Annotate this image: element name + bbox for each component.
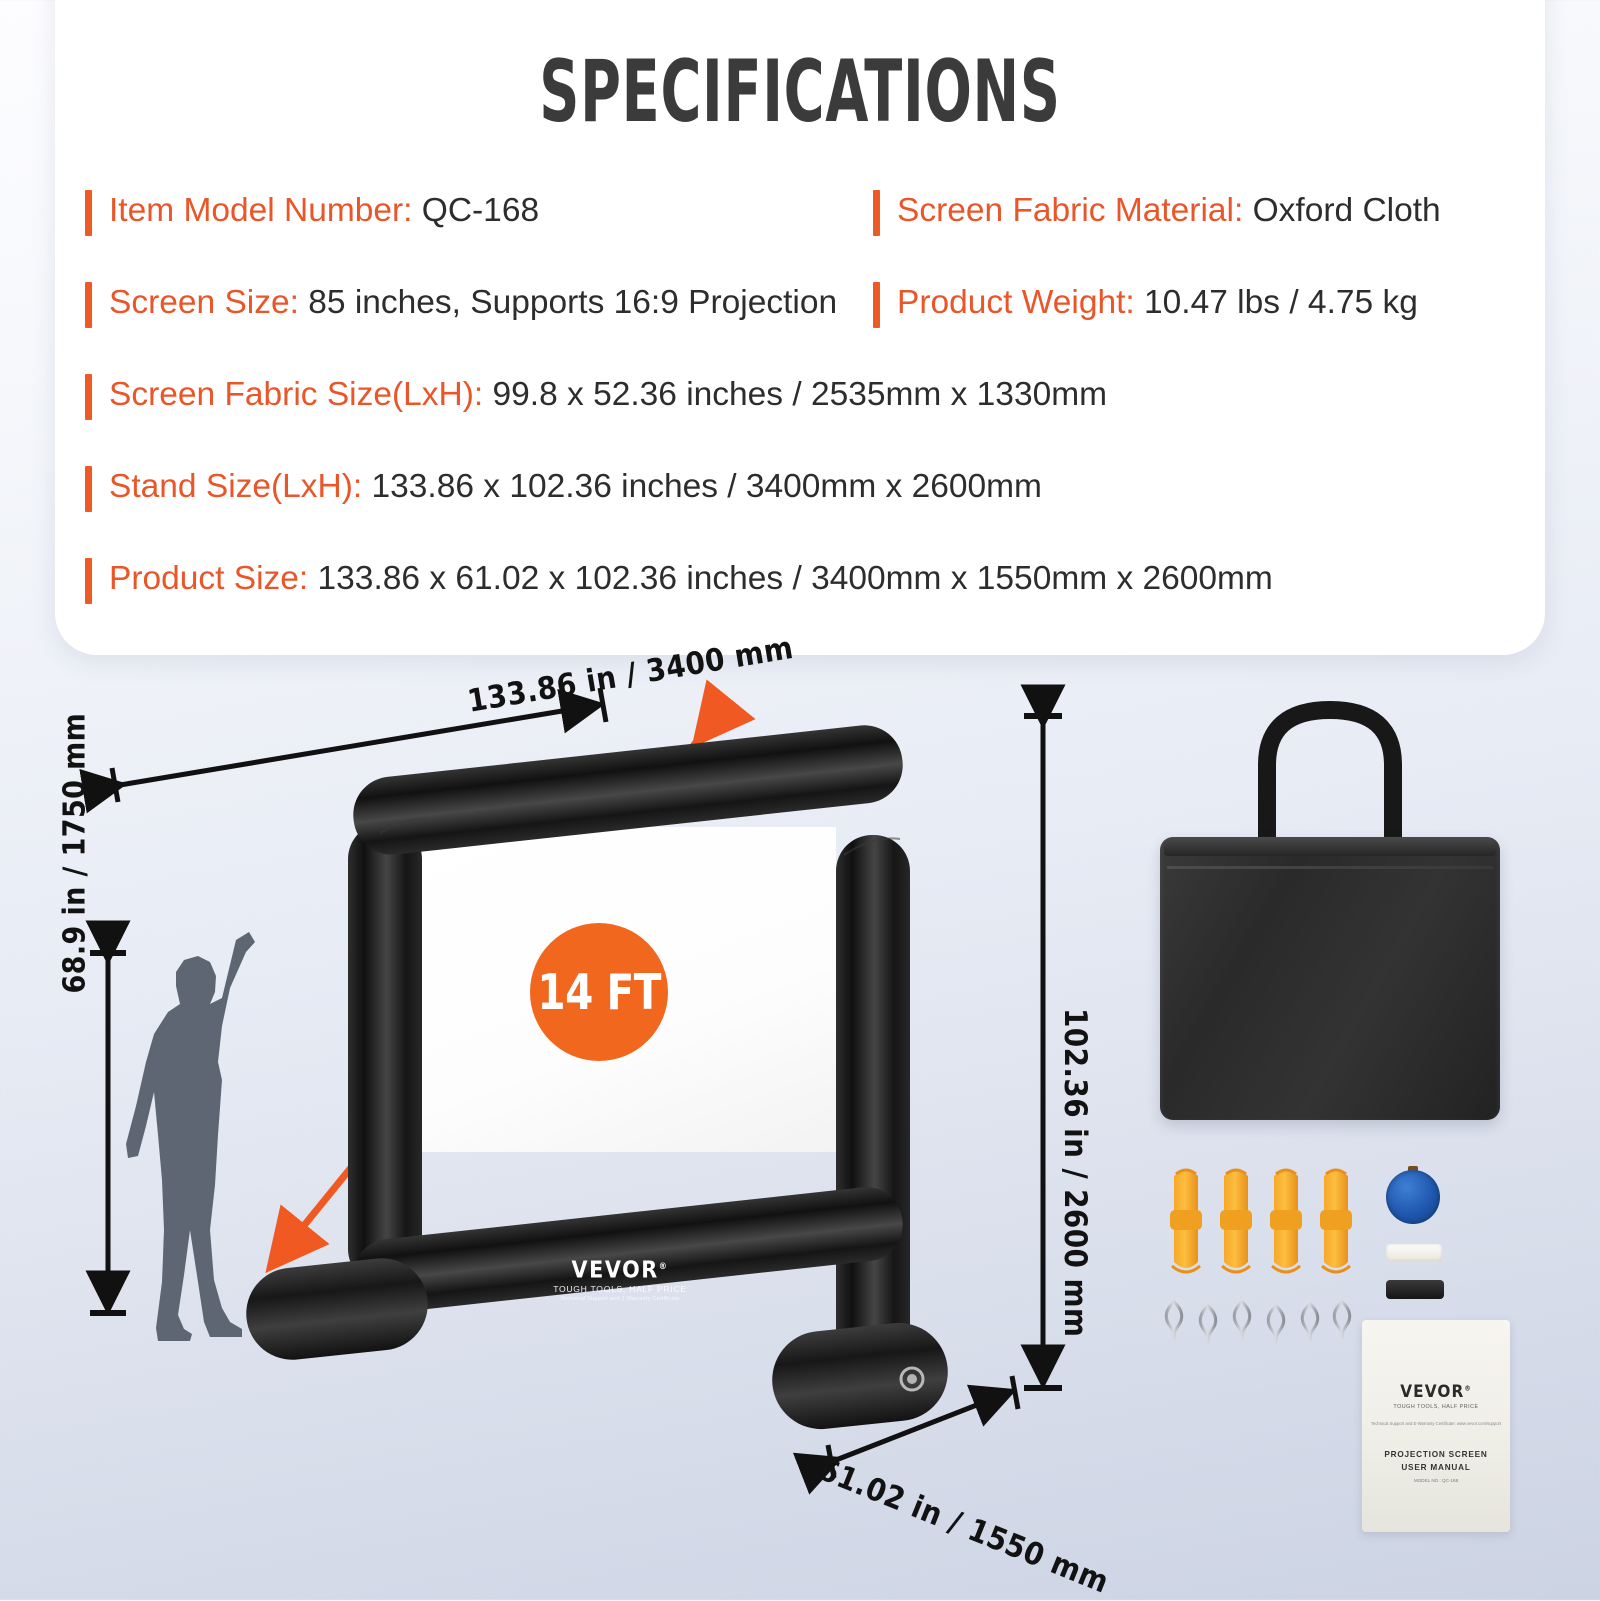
spec-label: Screen Fabric Material: [897,192,1243,229]
spec-label: Item Model Number: [109,192,412,229]
inflatable-frame [240,715,960,1505]
carry-bag [1155,670,1505,1140]
manual-model: MODEL NO.: QC-168 [1362,1478,1510,1483]
human-height-dimension-label: 68.9 in / 1750 mm [58,713,93,994]
manual-tagline: TOUGH TOOLS, HALF PRICE [1362,1404,1510,1410]
screen-size-badge: 14 FT [530,923,668,1061]
brand-tagline: TOUGH TOOLS, HALF PRICE [525,1283,715,1295]
spec-value: Oxford Cloth [1253,192,1441,229]
rope-bundle-icon [1170,1170,1352,1272]
spec-row: Product Size: 133.86 x 61.02 x 102.36 in… [55,554,1545,604]
spec-row: Stand Size(LxH): 133.86 x 102.36 inches … [55,462,1545,512]
spec-item-screen-size: Screen Size: 85 inches, Supports 16:9 Pr… [55,278,855,328]
page-title: SPECIFICATIONS [264,42,1337,142]
accent-bar-icon [85,282,92,328]
brand-subline: Technical Support and 1 Warranty Certifi… [525,1295,715,1303]
spec-item-product-size: Product Size: 133.86 x 61.02 x 102.36 in… [85,554,1273,604]
spec-value: QC-168 [422,192,539,229]
spec-row: Screen Size: 85 inches, Supports 16:9 Pr… [55,278,1545,328]
spec-value: 133.86 x 61.02 x 102.36 inches / 3400mm … [318,560,1273,597]
spec-label: Screen Fabric Size(LxH): [109,376,483,413]
spec-item-stand-size: Stand Size(LxH): 133.86 x 102.36 inches … [85,462,1042,512]
thread-spool-icon [1386,1244,1442,1261]
bag-top-lip [1164,837,1496,856]
manual-title-line1: PROJECTION SCREEN [1362,1450,1510,1459]
spec-value: 10.47 lbs / 4.75 kg [1144,284,1418,321]
user-manual: VEVOR® TOUGH TOOLS, HALF PRICE Technical… [1362,1320,1510,1532]
height-dimension-label: 102.36 in / 2600 mm [1057,1008,1093,1337]
repair-patch-icon [1386,1280,1444,1299]
bag-zipper-icon [1167,866,1493,869]
spec-label: Product Size: [109,560,308,597]
spec-item-screen-fabric-material: Screen Fabric Material: Oxford Cloth [855,186,1441,236]
accent-bar-icon [873,282,880,328]
inflatable-projection-screen: 14 FT VEVOR® TOUGH TOOLS, HALF PRICE Tec… [240,715,960,1505]
accent-bar-icon [85,558,92,604]
spec-label: Product Weight: [897,284,1135,321]
brand-name: VEVOR [572,1258,659,1284]
screen-size-badge-label: 14 FT [537,964,661,1021]
registered-mark: ® [659,1262,669,1272]
manual-title-line2: USER MANUAL [1362,1463,1510,1472]
accent-bar-icon [873,190,880,236]
spec-label: Screen Size: [109,284,299,321]
manual-registered-mark: ® [1464,1384,1471,1392]
spec-value: 99.8 x 52.36 inches / 2535mm x 1330mm [493,376,1108,413]
spec-row: Item Model Number: QC-168 Screen Fabric … [55,186,1545,236]
needle-kit-icon [1386,1170,1440,1224]
spec-value: 85 inches, Supports 16:9 Projection [308,284,837,321]
spec-row: Screen Fabric Size(LxH): 99.8 x 52.36 in… [55,370,1545,420]
specifications-card: SPECIFICATIONS Item Model Number: QC-168… [55,0,1545,655]
brand-logo: VEVOR® TOUGH TOOLS, HALF PRICE Technical… [525,1255,715,1303]
spec-item-model-number: Item Model Number: QC-168 [55,186,855,236]
manual-brand: VEVOR [1400,1382,1464,1402]
accent-bar-icon [85,374,92,420]
accent-bar-icon [85,190,92,236]
spec-value: 133.86 x 102.36 inches / 3400mm x 2600mm [372,468,1042,505]
product-illustration: 133.86 in / 3400 mm 102.36 in / 2600 mm … [0,640,1600,1600]
bag-body [1160,837,1500,1120]
spec-rows: Item Model Number: QC-168 Screen Fabric … [55,186,1545,604]
spec-label: Stand Size(LxH): [109,468,362,505]
accent-bar-icon [85,466,92,512]
accessory-group: VEVOR® TOUGH TOOLS, HALF PRICE Technical… [1150,1160,1520,1560]
ground-stake-icon [1166,1302,1349,1468]
spec-item-screen-fabric-size: Screen Fabric Size(LxH): 99.8 x 52.36 in… [85,370,1107,420]
spec-item-product-weight: Product Weight: 10.47 lbs / 4.75 kg [855,278,1418,328]
manual-subline: Technical Support and E-Warranty Certifi… [1362,1421,1510,1426]
